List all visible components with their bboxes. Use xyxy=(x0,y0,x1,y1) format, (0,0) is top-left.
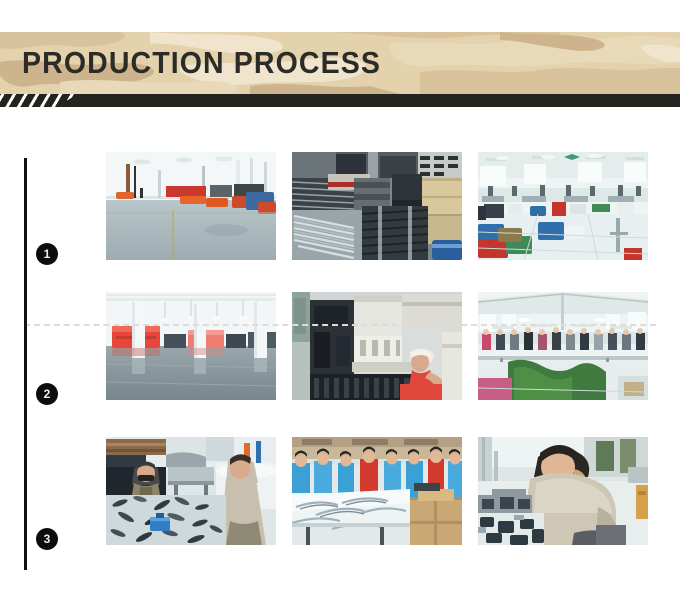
photo-sewing-machine-closeup[interactable] xyxy=(478,437,648,545)
step-3-photos xyxy=(106,437,646,577)
photo-metal-tubes-and-components-stock[interactable] xyxy=(292,152,462,260)
photo-sewing-workshop-wide[interactable] xyxy=(478,292,648,400)
step-1-photos xyxy=(106,152,646,292)
photo-factory-floor-overview[interactable] xyxy=(478,152,648,260)
photo-warehouse-raw-material-storage[interactable] xyxy=(106,152,276,260)
header-dark-bar xyxy=(0,94,680,107)
step-row-1: 1 xyxy=(0,152,680,292)
steps-container: 1 xyxy=(0,107,680,607)
step-row-3: 3 xyxy=(0,437,680,577)
step-badge-3: 3 xyxy=(36,528,58,550)
row-divider-1 xyxy=(24,324,656,326)
step-badge-1: 1 xyxy=(36,243,58,265)
photo-worker-operating-machine[interactable] xyxy=(292,292,462,400)
photo-inspection-line-workers[interactable] xyxy=(292,437,462,545)
step-2-photos xyxy=(106,292,646,432)
production-process-page: PRODUCTION PROCESS 1 xyxy=(0,0,680,607)
photo-warehouse-columns-red-bundles[interactable] xyxy=(106,292,276,400)
hazard-stripe-icon xyxy=(0,94,78,107)
step-badge-2: 2 xyxy=(36,383,58,405)
step-row-2: 2 xyxy=(0,292,680,432)
page-title: PRODUCTION PROCESS xyxy=(22,45,381,81)
header-banner: PRODUCTION PROCESS xyxy=(0,32,680,94)
photo-fabric-cutting-station[interactable] xyxy=(106,437,276,545)
timeline-spine xyxy=(24,158,27,570)
